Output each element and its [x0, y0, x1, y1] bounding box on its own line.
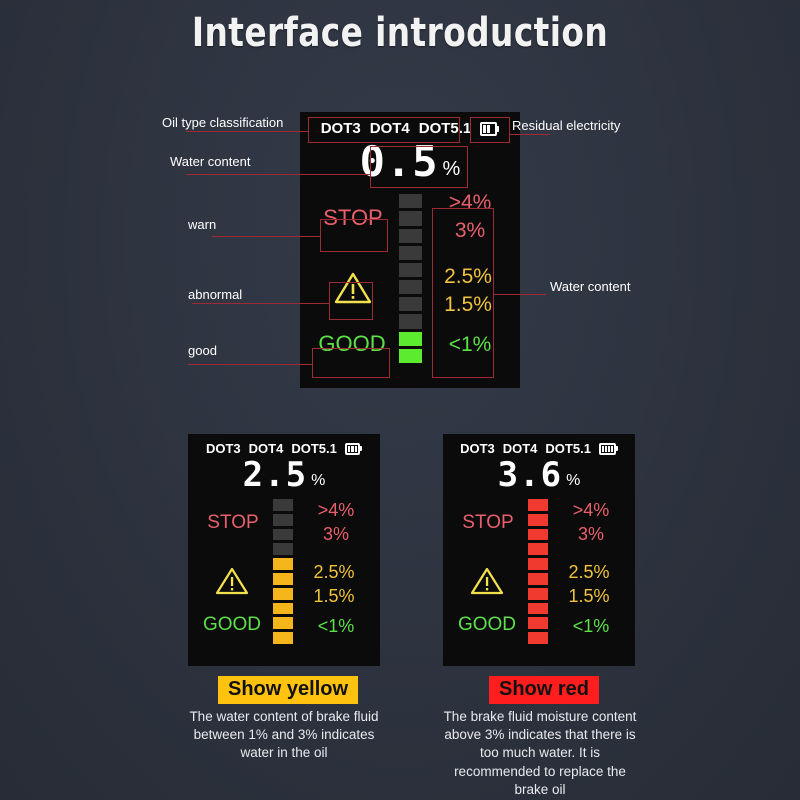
main-level-bar — [399, 191, 422, 363]
bar-segment — [273, 499, 293, 511]
bar-segment — [399, 332, 422, 346]
status-label-good: GOOD — [191, 614, 273, 636]
bar-segment — [399, 211, 422, 225]
oil-type-dot4: DOT4 — [503, 441, 538, 456]
battery-icon — [345, 443, 362, 455]
bar-segment — [528, 573, 548, 585]
main-oil-type-row: DOT3 DOT4 DOT5.1 — [300, 120, 520, 137]
scale-label-25: 2.5% — [298, 562, 370, 583]
status-label-good: GOOD — [310, 331, 394, 357]
bar-segment — [528, 499, 548, 511]
leader-oil-type — [186, 131, 308, 132]
example-screen-red: DOT3 DOT4 DOT5.1 3.6 % — [443, 434, 635, 666]
annotation-abnormal: abnormal — [188, 287, 242, 302]
bar-segment — [528, 514, 548, 526]
example-screen-yellow: DOT3 DOT4 DOT5.1 2.5 % STOP — [188, 434, 380, 666]
yellow-reading-value: 2.5 — [243, 458, 307, 492]
oil-type-dot3: DOT3 — [321, 120, 361, 137]
bar-segment — [273, 558, 293, 570]
annotation-oil-type: Oil type classification — [162, 115, 283, 130]
main-reading-unit: % — [443, 159, 461, 179]
scale-label-25: 2.5% — [553, 562, 625, 583]
scale-label-15: 1.5% — [428, 293, 508, 317]
yellow-oil-type-row: DOT3 DOT4 DOT5.1 — [188, 441, 380, 456]
bar-segment — [399, 229, 422, 243]
bar-segment — [399, 246, 422, 260]
bar-segment — [528, 632, 548, 644]
leader-warn — [212, 236, 320, 237]
bar-segment — [528, 603, 548, 615]
scale-label-25: 2.5% — [428, 265, 508, 289]
status-label-stop: STOP — [198, 512, 268, 534]
bar-segment — [528, 617, 548, 629]
scale-label-gt4: >4% — [300, 500, 372, 521]
bar-segment — [273, 617, 293, 629]
bar-segment — [273, 529, 293, 541]
yellow-reading-unit: % — [311, 473, 325, 489]
oil-type-dot51: DOT5.1 — [545, 441, 591, 456]
red-reading-value: 3.6 — [498, 458, 562, 492]
scale-label-3: 3% — [555, 524, 627, 545]
bar-segment — [273, 573, 293, 585]
warning-triangle-icon — [215, 566, 249, 601]
main-reading: 0.5 % — [300, 141, 520, 183]
yellow-level-bar — [273, 496, 293, 644]
scale-label-lt1: <1% — [300, 616, 372, 637]
oil-type-dot4: DOT4 — [249, 441, 284, 456]
scale-label-3: 3% — [300, 524, 372, 545]
bar-segment — [273, 514, 293, 526]
red-level-bar — [528, 496, 548, 644]
leader-good — [188, 364, 312, 365]
annotation-water-content-right: Water content — [550, 279, 630, 294]
bar-segment — [399, 280, 422, 294]
caption-red: The brake fluid moisture content above 3… — [439, 708, 641, 799]
bar-segment — [399, 314, 422, 328]
bar-segment — [528, 543, 548, 555]
scale-label-gt4: >4% — [430, 191, 510, 215]
annotation-water-content-left: Water content — [170, 154, 250, 169]
annotation-residual-electricity: Residual electricity — [512, 118, 620, 133]
bar-segment — [273, 632, 293, 644]
main-screen-body: STOP GOOD >4% 3% 2.5% 1.5% <1% — [300, 183, 520, 368]
chip-show-red: Show red — [489, 676, 599, 704]
yellow-screen-body: STOP GOOD >4% 3% 2.5% 1.5% <1% — [188, 492, 380, 642]
status-label-stop: STOP — [453, 512, 523, 534]
oil-type-dot51: DOT5.1 — [291, 441, 337, 456]
bar-segment — [528, 529, 548, 541]
warning-triangle-icon — [334, 271, 372, 310]
red-reading-unit: % — [566, 473, 580, 489]
bar-segment — [399, 263, 422, 277]
bar-segment — [528, 588, 548, 600]
oil-type-dot4: DOT4 — [370, 120, 410, 137]
leader-abnormal — [192, 303, 329, 304]
yellow-reading: 2.5 % — [188, 458, 380, 492]
leader-water-content-left — [186, 174, 370, 175]
chip-show-yellow: Show yellow — [218, 676, 358, 704]
main-device-screen: DOT3 DOT4 DOT5.1 0.5 % — [300, 112, 520, 388]
red-oil-type-row: DOT3 DOT4 DOT5.1 — [443, 441, 635, 456]
status-label-good: GOOD — [446, 614, 528, 636]
red-screen-body: STOP GOOD >4% 3% 2.5% 1.5% <1% — [443, 492, 635, 642]
annotation-warn: warn — [188, 217, 216, 232]
bar-segment — [399, 194, 422, 208]
bar-segment — [528, 558, 548, 570]
leader-water-content-right — [494, 294, 546, 295]
battery-icon — [480, 122, 499, 136]
scale-label-lt1: <1% — [555, 616, 627, 637]
bar-segment — [399, 297, 422, 311]
warning-triangle-icon — [470, 566, 504, 601]
bar-segment — [273, 588, 293, 600]
oil-type-dot51: DOT5.1 — [419, 120, 472, 137]
bar-segment — [273, 543, 293, 555]
bar-segment — [399, 349, 422, 363]
oil-type-dot3: DOT3 — [460, 441, 495, 456]
scale-label-15: 1.5% — [298, 586, 370, 607]
bar-segment — [273, 603, 293, 615]
caption-yellow: The water content of brake fluid between… — [176, 708, 392, 763]
leader-residual — [510, 134, 550, 135]
main-reading-value: 0.5 — [360, 141, 439, 183]
annotation-good: good — [188, 343, 217, 358]
page-title: Interface introduction — [72, 10, 728, 56]
oil-type-dot3: DOT3 — [206, 441, 241, 456]
scale-label-15: 1.5% — [553, 586, 625, 607]
scale-label-3: 3% — [430, 219, 510, 243]
scale-label-lt1: <1% — [430, 333, 510, 357]
status-label-stop: STOP — [318, 205, 388, 231]
red-reading: 3.6 % — [443, 458, 635, 492]
scale-label-gt4: >4% — [555, 500, 627, 521]
battery-icon — [599, 443, 618, 455]
